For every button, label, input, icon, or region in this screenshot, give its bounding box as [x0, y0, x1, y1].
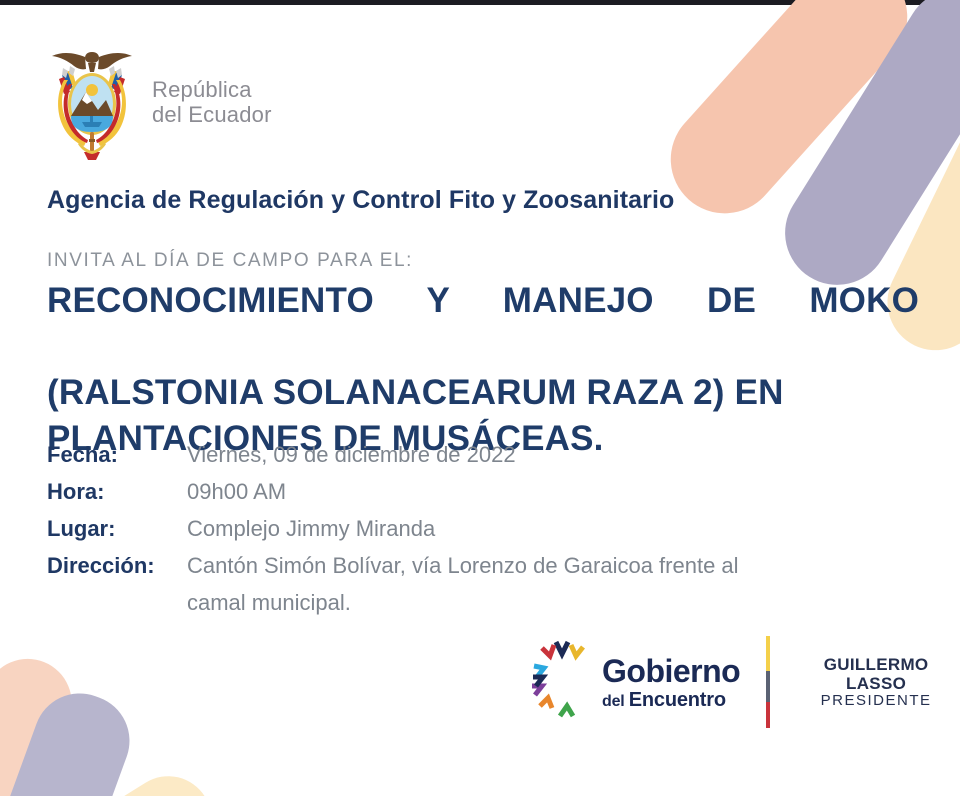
- footer-logos: Gobierno del Encuentro GUILLERMO LASSO P…: [530, 636, 960, 728]
- invitation-subtitle: INVITA AL DÍA DE CAMPO PARA EL:: [47, 250, 413, 272]
- gobierno-line-2-prefix: del: [602, 693, 629, 710]
- event-title: RECONOCIMIENTO Y MANEJO DE MOKO (RALSTON…: [47, 278, 937, 462]
- ecuador-coat-of-arms-icon: [46, 44, 138, 160]
- detail-value-direccion-line-2: camal municipal.: [187, 584, 927, 621]
- president-block: GUILLERMO LASSO PRESIDENTE: [792, 655, 960, 710]
- top-edge-strip: [0, 0, 960, 5]
- decor-bar-cream-bottom-left: [0, 760, 228, 796]
- detail-value-direccion-line-1: Cantón Simón Bolívar, vía Lorenzo de Gar…: [187, 553, 739, 578]
- gobierno-line-2-main: Encuentro: [629, 689, 726, 711]
- decor-bar-salmon-bottom-left: [0, 643, 87, 796]
- detail-label-lugar: Lugar:: [47, 510, 187, 547]
- detail-label-fecha: Fecha:: [47, 436, 187, 473]
- president-name: GUILLERMO LASSO: [792, 655, 960, 693]
- gobierno-line-1: Gobierno: [602, 655, 740, 687]
- detail-value-fecha: Viernes, 09 de diciembre de 2022: [187, 436, 927, 473]
- gobierno-wordmark: Gobierno del Encuentro: [602, 655, 740, 710]
- detail-value-lugar: Complejo Jimmy Miranda: [187, 510, 927, 547]
- detail-label-hora: Hora:: [47, 473, 187, 510]
- detail-row-fecha: Fecha: Viernes, 09 de diciembre de 2022: [47, 436, 927, 473]
- event-title-line-2: (RALSTONIA SOLANACEARUM RAZA 2) EN: [47, 370, 937, 416]
- detail-row-hora: Hora: 09h00 AM: [47, 473, 927, 510]
- detail-value-hora: 09h00 AM: [187, 473, 927, 510]
- gobierno-arrows-mark-icon: [530, 636, 596, 728]
- president-role: PRESIDENTE: [792, 693, 960, 710]
- decor-bar-purple-bottom-left: [0, 681, 142, 796]
- republic-label: República del Ecuador: [152, 77, 272, 127]
- gobierno-logo: Gobierno del Encuentro: [530, 636, 740, 728]
- tricolor-divider: [766, 636, 770, 728]
- detail-row-lugar: Lugar: Complejo Jimmy Miranda: [47, 510, 927, 547]
- agency-title: Agencia de Regulación y Control Fito y Z…: [47, 186, 674, 215]
- invitation-poster: República del Ecuador Agencia de Regulac…: [0, 0, 960, 796]
- detail-label-direccion: Dirección:: [47, 547, 187, 584]
- header-branding: República del Ecuador: [46, 44, 272, 160]
- decor-bar-purple-top-right: [765, 0, 960, 304]
- event-details: Fecha: Viernes, 09 de diciembre de 2022 …: [47, 436, 927, 621]
- detail-value-direccion: Cantón Simón Bolívar, vía Lorenzo de Gar…: [187, 547, 927, 621]
- gobierno-line-2: del Encuentro: [602, 690, 740, 710]
- decor-bar-salmon-top-right: [649, 0, 930, 236]
- detail-row-direccion: Dirección: Cantón Simón Bolívar, vía Lor…: [47, 547, 927, 621]
- event-title-line-1: RECONOCIMIENTO Y MANEJO DE MOKO: [47, 278, 919, 370]
